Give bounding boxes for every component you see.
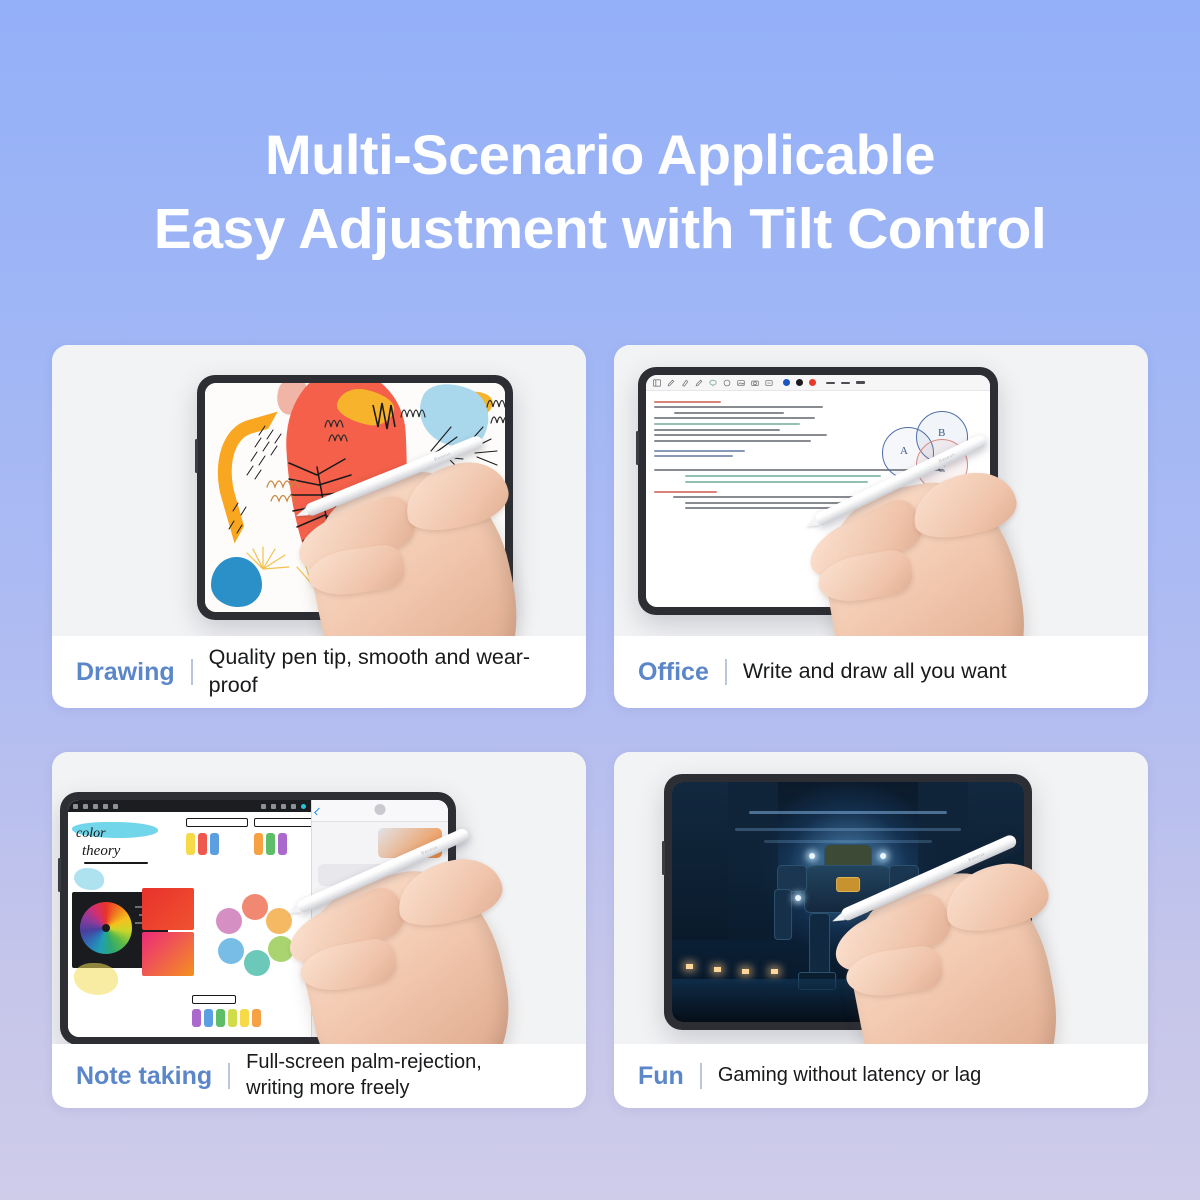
hud-bar-low xyxy=(764,840,933,843)
notes-app-toolbar[interactable] xyxy=(646,375,990,391)
pencil-tool-icon[interactable] xyxy=(271,804,276,809)
feature-card-fun[interactable]: Baseus Fun Gaming without latency or lag xyxy=(614,752,1148,1108)
mech-shoulder-left xyxy=(777,865,807,892)
caption-desc-drawing: Quality pen tip, smooth and wear-proof xyxy=(209,644,562,699)
floor-light-3 xyxy=(742,969,749,974)
title-underline xyxy=(84,862,148,864)
swatch-red xyxy=(198,833,207,855)
stroke-weight-3[interactable] xyxy=(856,381,865,384)
notes-pane: color theory xyxy=(68,800,311,1037)
caption-drawing: Drawing Quality pen tip, smooth and wear… xyxy=(52,636,586,708)
marker-icon[interactable] xyxy=(113,804,118,809)
color-swatch-black[interactable] xyxy=(796,379,803,386)
camera-icon[interactable] xyxy=(751,379,759,387)
smudge-tool-icon[interactable] xyxy=(281,804,286,809)
caption-desc-fun: Gaming without latency or lag xyxy=(718,1063,981,1089)
hand-knuckle xyxy=(907,465,1021,545)
stroke-weight-2[interactable] xyxy=(841,382,850,384)
back-chevron-icon[interactable] xyxy=(314,808,322,816)
eraser-tool-icon[interactable] xyxy=(291,804,296,809)
brush-icon[interactable] xyxy=(93,804,98,809)
swatch-t2 xyxy=(204,1009,213,1027)
title-line-1: color xyxy=(76,826,106,841)
caption-divider xyxy=(700,1063,702,1089)
page-title: Multi-Scenario Applicable Easy Adjustmen… xyxy=(0,118,1200,267)
pen-icon[interactable] xyxy=(83,804,88,809)
feature-card-office[interactable]: A B C Baseus Off xyxy=(614,345,1148,708)
hand-drawing xyxy=(288,449,586,636)
feature-card-note-taking[interactable]: color theory xyxy=(52,752,586,1108)
swatch-t3 xyxy=(216,1009,225,1027)
hand-office xyxy=(800,463,1100,636)
floor-light-4 xyxy=(771,969,778,974)
floor-light-2 xyxy=(714,967,721,972)
mech-lamp-left xyxy=(810,853,816,859)
image-icon[interactable] xyxy=(737,379,745,387)
swatch-t6 xyxy=(252,1009,261,1027)
office-scene: A B C Baseus xyxy=(614,345,1148,636)
headline-line-1: Multi-Scenario Applicable xyxy=(0,118,1200,192)
primary-colors-group xyxy=(186,818,248,855)
marker-icon[interactable] xyxy=(695,379,703,387)
swatch-t5 xyxy=(240,1009,249,1027)
floor-light-1 xyxy=(686,964,693,969)
title-line-2: theory xyxy=(82,843,120,859)
title-line-2-wrap: theory xyxy=(82,842,120,860)
swatch-t1 xyxy=(192,1009,201,1027)
fun-scene: Baseus xyxy=(614,752,1148,1044)
pink-poster-thumb xyxy=(142,932,194,976)
tertiary-colors-group xyxy=(192,995,288,1027)
swatch-orange xyxy=(254,833,263,855)
color-swatch-red[interactable] xyxy=(809,379,816,386)
swatch-t4 xyxy=(228,1009,237,1027)
drawing-scene: Baseus xyxy=(52,345,586,636)
swatch-green xyxy=(266,833,275,855)
caption-key-note-taking: Note taking xyxy=(76,1062,212,1091)
label-tertiary-colors xyxy=(192,995,236,1004)
caption-divider xyxy=(725,659,727,685)
textbox-icon[interactable] xyxy=(765,379,773,387)
caption-desc-office: Write and draw all you want xyxy=(743,658,1007,686)
venn-label-a: A xyxy=(900,445,908,457)
caption-key-drawing: Drawing xyxy=(76,658,175,687)
hangar-pillar-left xyxy=(672,782,728,940)
title-text-wrap: color xyxy=(76,824,106,842)
caption-divider xyxy=(191,659,193,685)
grid-icon[interactable] xyxy=(73,804,78,809)
sidebar-icon[interactable] xyxy=(653,379,661,387)
eraser-icon[interactable] xyxy=(681,379,689,387)
mech-lamp-low-left xyxy=(795,895,801,901)
swatch-blue xyxy=(210,833,219,855)
feature-card-grid: Baseus Drawing Quality pen tip, smooth a… xyxy=(52,345,1148,1108)
caption-key-fun: Fun xyxy=(638,1062,684,1091)
yellow-wash xyxy=(74,963,118,995)
notes-toolbar[interactable] xyxy=(68,800,311,812)
hud-bar-top xyxy=(749,811,946,814)
caption-fun: Fun Gaming without latency or lag xyxy=(614,1044,1148,1108)
caption-desc-note-taking: Full-screen palm-rejection, writing more… xyxy=(246,1050,482,1101)
messages-header xyxy=(312,800,448,822)
swatch-yellow xyxy=(186,833,195,855)
hand-note-taking xyxy=(282,848,582,1044)
note-taking-scene: color theory xyxy=(52,752,586,1044)
hud-bar-mid xyxy=(735,828,960,831)
lasso-icon[interactable] xyxy=(709,379,717,387)
label-primary-colors xyxy=(186,818,248,827)
caption-divider xyxy=(228,1063,230,1089)
pen-icon[interactable] xyxy=(667,379,675,387)
color-swatch-blue[interactable] xyxy=(783,379,790,386)
label-secondary-colors xyxy=(254,818,316,827)
color-wheel xyxy=(80,902,132,954)
color-picker-icon[interactable] xyxy=(301,804,306,809)
eraser-icon[interactable] xyxy=(103,804,108,809)
red-poster-thumb xyxy=(142,888,194,930)
cyan-wash xyxy=(74,868,104,890)
headline-line-2: Easy Adjustment with Tilt Control xyxy=(0,192,1200,267)
feature-card-drawing[interactable]: Baseus Drawing Quality pen tip, smooth a… xyxy=(52,345,586,708)
undo-icon[interactable] xyxy=(261,804,266,809)
caption-note-taking: Note taking Full-screen palm-rejection, … xyxy=(52,1044,586,1108)
caption-office: Office Write and draw all you want xyxy=(614,636,1148,708)
hangar-pillar-left-2 xyxy=(721,782,777,940)
stroke-weight-1[interactable] xyxy=(826,382,835,384)
caption-key-office: Office xyxy=(638,658,709,687)
hand-fun xyxy=(826,852,1126,1044)
venn-label-b: B xyxy=(938,427,945,439)
mech-arm-left xyxy=(774,889,792,940)
shape-icon[interactable] xyxy=(723,379,731,387)
avatar xyxy=(375,804,386,815)
